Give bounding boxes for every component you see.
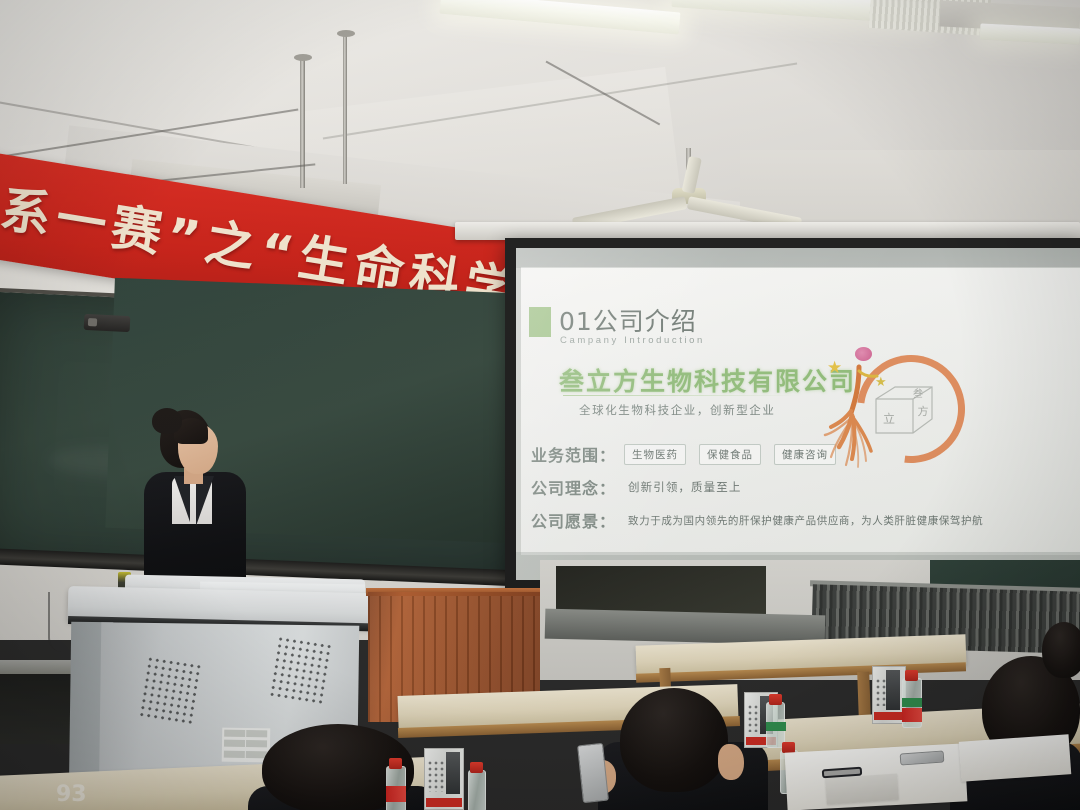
slide-subtitle-english: Campany Introduction <box>560 335 705 346</box>
hanging-rod-1 <box>300 58 305 188</box>
slide-title: 01公司介绍 <box>559 302 697 338</box>
presenter-hair-bun <box>152 408 182 434</box>
hanging-rod-2 <box>343 34 347 184</box>
water-bottle-2 <box>468 770 486 810</box>
slide-value-vision: 致力于成为国内领先的肝保护健康产品供应商，为人类肝脏健康保驾护航 <box>628 513 983 528</box>
paper-sheet-3 <box>825 774 899 805</box>
slide-label-vision: 公司愿景： <box>531 508 616 532</box>
slide-accent-block <box>529 307 551 337</box>
water-bottle-3-cap <box>769 694 782 705</box>
water-bottle-4-label <box>902 698 922 707</box>
slide-tagline: 全球化生物科技企业，创新型企业 <box>579 402 776 418</box>
product-box-3-image <box>886 670 900 710</box>
product-box-2-pattern <box>747 704 761 732</box>
slide-business-tags: 生物医药 保健食品 健康咨询 <box>624 444 836 465</box>
slide-tag-health-food: 保健食品 <box>699 444 761 465</box>
slide-value-philosophy: 创新引领，质量至上 <box>628 479 741 495</box>
product-box-1-image <box>446 752 460 794</box>
podium-speaker-grille-left <box>138 655 203 725</box>
podium-control-label <box>222 728 271 763</box>
logo-star-icon-1: ★ <box>827 359 842 376</box>
slide-company-logo: ★ ★ 叁 立 方 <box>811 345 971 480</box>
paper-sheet-2 <box>959 734 1072 782</box>
hanging-rod-cap-2 <box>337 30 355 37</box>
desk-leg-1 <box>857 672 871 718</box>
audience-person-center-head <box>620 688 728 792</box>
water-bottle-1-label <box>386 786 406 802</box>
water-bottle-2-cap <box>470 762 483 773</box>
slide-row-vision: 公司愿景： 致力于成为国内领先的肝保护健康产品供应商，为人类肝脏健康保驾护航 <box>531 508 983 532</box>
presentation-slide: 01公司介绍 Campany Introduction 叁立方生物科技有限公司 … <box>521 267 1080 555</box>
slide-row-business-scope: 业务范围： 生物医药 保健食品 健康咨询 <box>531 442 836 466</box>
slide-label-business-scope: 业务范围： <box>531 442 616 466</box>
water-bottle-1-cap <box>389 758 402 769</box>
slide-company-underline <box>563 395 798 396</box>
slide-label-philosophy: 公司理念： <box>531 475 616 499</box>
slide-tag-biomedicine: 生物医药 <box>624 444 686 465</box>
product-box-1-pattern <box>427 760 444 792</box>
screen-top-band <box>516 248 1080 268</box>
camera-device-on-board <box>84 314 131 332</box>
product-box-3-red-band <box>874 712 904 720</box>
logo-flower-icon <box>855 347 872 361</box>
slide-row-philosophy: 公司理念： 创新引领，质量至上 <box>531 475 741 499</box>
svg-text:叁: 叁 <box>913 387 923 400</box>
hanging-rod-cap-1 <box>294 54 312 61</box>
water-bottle-4-red-label <box>902 708 922 722</box>
logo-cube-icon: 叁 立 方 <box>873 383 935 437</box>
desk-number-label: 93 <box>56 782 87 807</box>
product-box-1-red-band <box>426 798 462 807</box>
water-bottle-4-cap <box>905 670 918 681</box>
audience-person-far-right-head <box>1042 622 1080 678</box>
audience-person-center-hand-right <box>718 744 744 780</box>
svg-text:方: 方 <box>918 404 929 418</box>
svg-text:立: 立 <box>883 411 895 426</box>
product-box-3-pattern <box>875 678 888 706</box>
podium-cable-1 <box>48 592 70 652</box>
water-bottle-3-label <box>766 722 786 731</box>
podium-speaker-grille-right <box>268 635 333 705</box>
screenshot-root: 一系一赛”之“生命科学竞 01公司介绍 Campany Introduction… <box>0 0 1080 810</box>
